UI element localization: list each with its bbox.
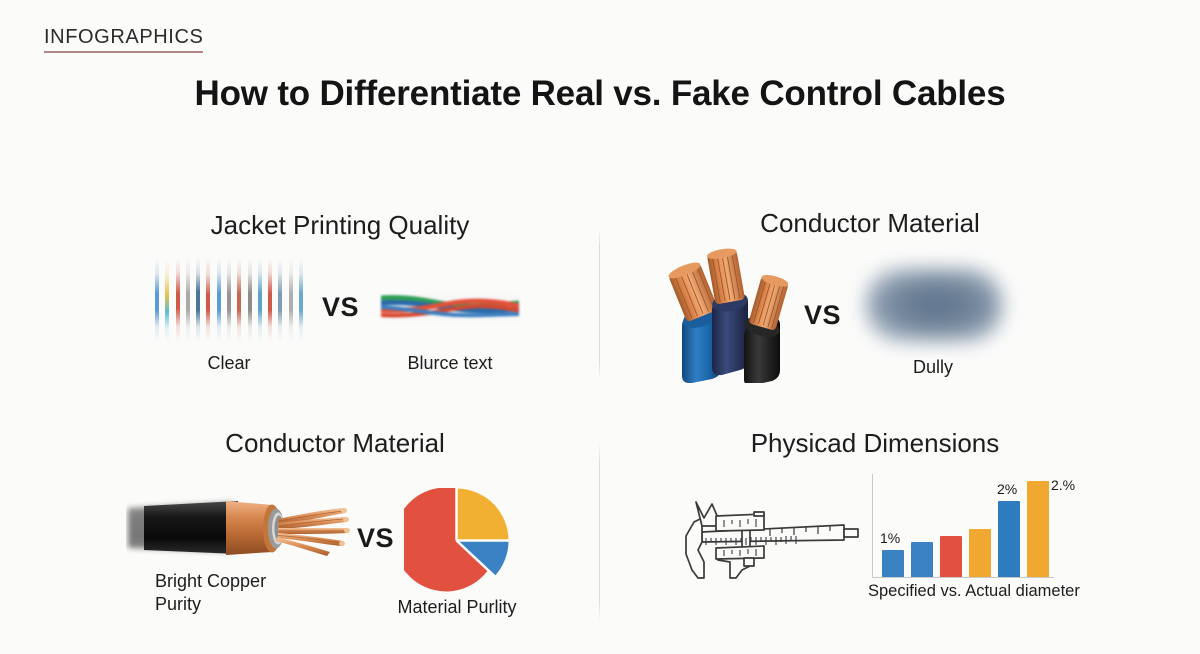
printed-jacket-strands-icon (155, 258, 303, 342)
strand (165, 258, 169, 342)
strand (196, 258, 200, 342)
material-purity-pie-chart (404, 488, 509, 593)
panel-title: Conductor Material (85, 428, 585, 459)
twisted-wires-svg (381, 294, 519, 321)
strand (299, 258, 303, 342)
bar-label-5: 2% (997, 481, 1017, 497)
strand (186, 258, 190, 342)
caption-blurce-text: Blurce text (376, 352, 524, 375)
strand (278, 258, 282, 342)
copper-cable-cutaway-icon (126, 492, 352, 564)
strand (258, 258, 262, 342)
strand (289, 258, 293, 342)
caption-specified-vs-actual: Specified vs. Actual diameter (868, 582, 1080, 601)
kicker-label: INFOGRAPHICS (44, 26, 203, 53)
bar-label-6: 2.% (1051, 477, 1075, 493)
strand (237, 258, 241, 342)
caption-clear: Clear (155, 352, 303, 375)
three-copper-cables-icon (668, 248, 788, 383)
panel-title: Conductor Material (640, 208, 1100, 239)
bar-6: 2.% (1027, 481, 1049, 577)
caliper-svg (672, 492, 867, 580)
strand (155, 258, 159, 342)
vs-label-3: VS (357, 523, 394, 554)
vs-label-1: VS (322, 292, 359, 323)
panel-title: Physicad Dimensions (640, 428, 1110, 459)
cable-cutaway-svg (126, 492, 352, 564)
dull-blurred-blob-icon (866, 268, 1002, 342)
page-title: How to Differentiate Real vs. Fake Contr… (0, 74, 1200, 114)
bar-chart-x-axis (872, 577, 1054, 578)
bar-1: 1% (882, 550, 904, 577)
bar-5: 2% (998, 501, 1020, 577)
vs-label-2: VS (804, 300, 841, 331)
bar-4 (969, 529, 991, 577)
caption-line-2: Purity (155, 593, 355, 616)
bar-3 (940, 536, 962, 577)
three-cables-svg (668, 248, 788, 383)
bar-chart-bars: 1% 2% 2.% (882, 474, 1050, 577)
caption-material-purlity: Material Purlity (377, 596, 537, 619)
blurred-twisted-wires-icon (381, 294, 519, 321)
pie-svg (404, 488, 509, 593)
caption-bright-copper-purity: Bright Copper Purity (155, 570, 355, 615)
diameter-bar-chart: 1% 2% 2.% (872, 474, 1054, 578)
divider-top (599, 228, 600, 380)
strand (227, 258, 231, 342)
bar-label-1: 1% (880, 530, 900, 546)
pie-slice-yellow (457, 489, 509, 541)
bar-chart-y-axis (872, 474, 873, 578)
panel-title: Jacket Printing Quality (90, 210, 590, 241)
divider-bottom (599, 442, 600, 622)
strand (217, 258, 221, 342)
vernier-caliper-icon (672, 492, 867, 580)
bar-2 (911, 542, 933, 577)
strand (268, 258, 272, 342)
caption-line-1: Bright Copper (155, 570, 355, 593)
infographic-canvas: INFOGRAPHICS How to Differentiate Real v… (0, 0, 1200, 654)
caption-dully: Dully (858, 356, 1008, 379)
strand (206, 258, 210, 342)
strand (176, 258, 180, 342)
strand (248, 258, 252, 342)
